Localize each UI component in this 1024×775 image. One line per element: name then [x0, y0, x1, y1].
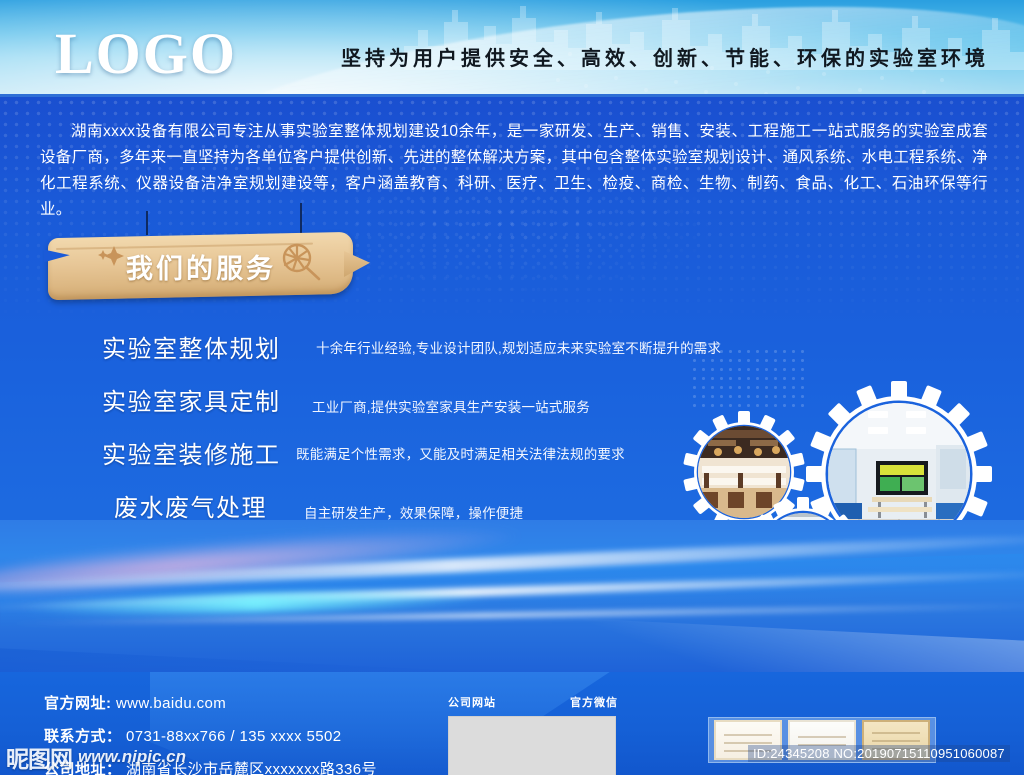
qr-wechat: 官方微信 — [570, 694, 618, 710]
service-desc: 工业厂商,提供实验室家具生产安装一站式服务 — [312, 396, 590, 416]
qr-company-site-image — [448, 716, 616, 775]
id-watermark: ID:24345208 NO:20190715110951060087 — [748, 745, 1010, 762]
footer-website-label: 官方网址: — [44, 695, 112, 712]
footer-website-value[interactable]: www.baidu.com — [116, 695, 226, 712]
sparkle-icon — [96, 245, 130, 269]
logo-text: LOGO — [55, 20, 237, 87]
services-banner-title: 我们的服务 — [126, 247, 276, 286]
service-item-3: 实验室装修施工 既能满足个性需求，又能及时满足相关法律法规的要求 — [96, 435, 696, 488]
service-title: 实验室整体规划 — [102, 329, 281, 364]
nipic-watermark-url: www.nipic.cn — [78, 747, 186, 767]
service-desc: 自主研发生产，效果保障，操作便捷 — [304, 502, 523, 522]
nipic-watermark: 昵图网 www.nipic.cn — [6, 740, 186, 774]
services-banner: 我们的服务 — [48, 225, 358, 305]
nipic-watermark-cn: 昵图网 — [6, 740, 72, 774]
services-list: 实验室整体规划 十余年行业经验,专业设计团队,规划适应未来实验室不断提升的需求 … — [96, 329, 696, 541]
service-item-1: 实验室整体规划 十余年行业经验,专业设计团队,规划适应未来实验室不断提升的需求 — [96, 329, 696, 382]
footer-website-line: 官方网址: www.baidu.com — [44, 692, 226, 713]
header-slogan: 坚持为用户提供安全、高效、创新、节能、环保的实验室环境 — [315, 42, 1015, 71]
banner-rope-right — [300, 203, 302, 235]
service-desc: 十余年行业经验,专业设计团队,规划适应未来实验室不断提升的需求 — [316, 337, 721, 357]
lollipop-icon — [280, 243, 324, 283]
service-title: 实验室家具定制 — [102, 382, 281, 417]
company-intro-paragraph: 湖南xxxx设备有限公司专注从事实验室整体规划建设10余年，是一家研发、生产、销… — [40, 119, 988, 223]
qr-wechat-label: 官方微信 — [570, 694, 618, 710]
service-desc: 既能满足个性需求，又能及时满足相关法律法规的要求 — [296, 443, 625, 463]
poster-header: LOGO 坚持为用户提供安全、高效、创新、节能、环保的实验室环境 — [0, 0, 1024, 96]
poster-canvas: LOGO 坚持为用户提供安全、高效、创新、节能、环保的实验室环境 湖南xxxx设… — [0, 0, 1024, 775]
service-item-2: 实验室家具定制 工业厂商,提供实验室家具生产安装一站式服务 — [96, 382, 696, 435]
service-title: 废水废气处理 — [114, 488, 267, 523]
banner-rope-left — [146, 211, 148, 235]
service-title: 实验室装修施工 — [102, 435, 281, 470]
